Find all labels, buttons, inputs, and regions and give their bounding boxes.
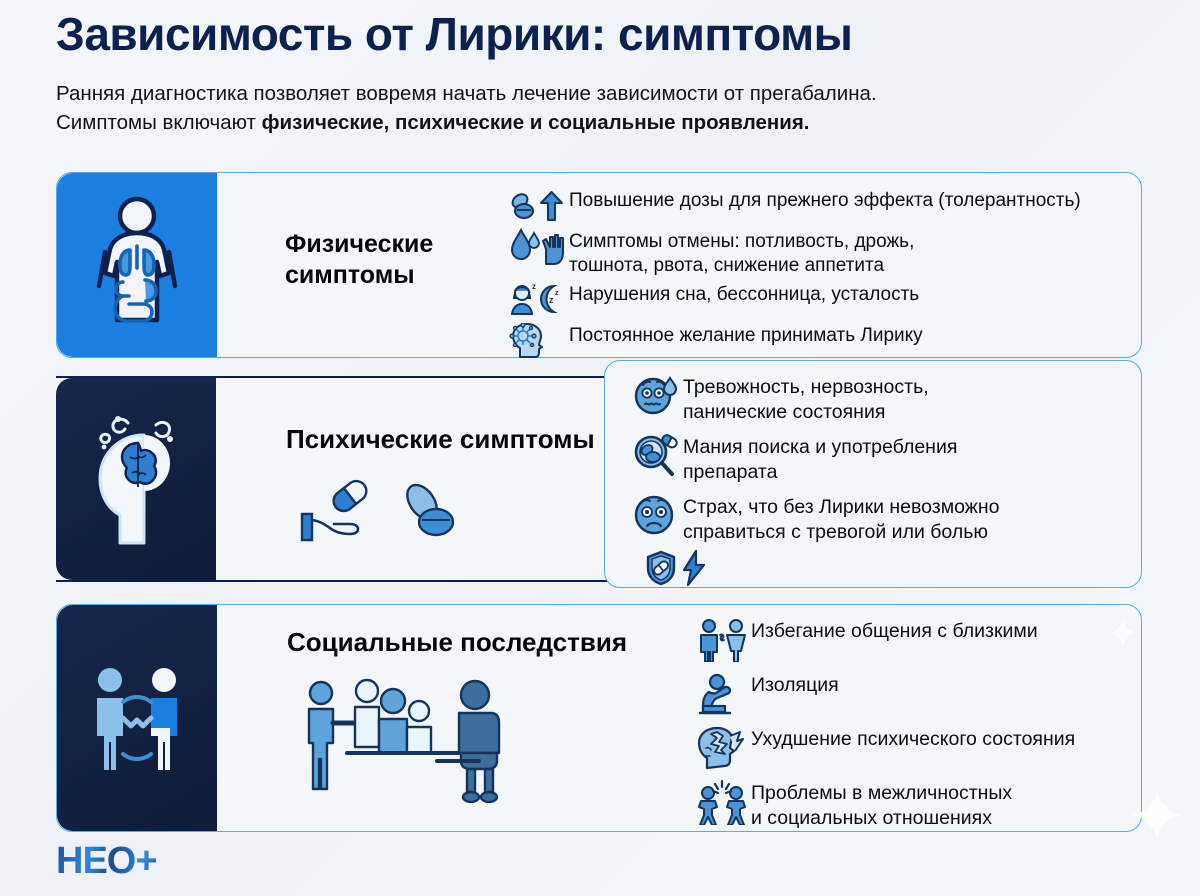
head-brain-icon: [84, 405, 188, 553]
panel-social: [57, 605, 217, 831]
panel-physical: [57, 173, 217, 357]
head-craving-thoughts-icon: [505, 322, 569, 360]
group-of-people-isolation-icon: [289, 667, 639, 807]
sweat-drop-trembling-hand-icon: [505, 228, 569, 266]
list-item-text: Проблемы в межличностных и социальных от…: [751, 779, 1012, 830]
social-illustration: [289, 667, 639, 812]
list-item-text: Страх, что без Лирики невозможно справит…: [683, 493, 999, 544]
header: Зависимость от Лирики: симптомы Ранняя д…: [56, 8, 1166, 137]
list-item: Симптомы отмены: потливость, дрожь, тошн…: [505, 228, 1081, 278]
list-item: Проблемы в межличностных и социальных от…: [693, 779, 1075, 830]
sleeping-person-moon-icon: z z z z: [505, 281, 569, 319]
svg-text:z: z: [549, 295, 554, 305]
list-item: Изоляция: [693, 671, 1075, 717]
logo-text: НЕО: [56, 842, 135, 880]
list-item: Ухудшение психического состояния: [693, 725, 1075, 771]
svg-text:z: z: [555, 290, 559, 297]
list-item-text: Повышение дозы для прежнего эффекта (тол…: [569, 187, 1081, 213]
list-item-text: Нарушения сна, бессонница, усталость: [569, 281, 919, 307]
card-social-consequences: Социальные последствия: [56, 604, 1142, 832]
human-body-organs-icon: [87, 190, 187, 340]
list-item-text: Тревожность, нервозность, панические сос…: [683, 373, 929, 424]
infographic-page: Зависимость от Лирики: симптомы Ранняя д…: [0, 0, 1200, 896]
card-mental-list-box: Тревожность, нервозность, панические сос…: [604, 360, 1142, 588]
brand-logo: НЕО +: [56, 842, 157, 880]
mental-footer-icons: [643, 549, 999, 587]
svg-text:z: z: [528, 291, 531, 297]
worried-face-icon: [627, 493, 683, 537]
pills-tablets-icon: [401, 480, 453, 535]
card-social-heading: Социальные последствия: [287, 627, 627, 659]
shield-capsule-icon: [643, 549, 679, 587]
page-subtitle: Ранняя диагностика позволяет вовремя нач…: [56, 79, 1146, 137]
card-mental-symptoms: Психические симптомы: [56, 376, 618, 582]
heading-line-1: Физические: [285, 230, 433, 258]
man-woman-avoidance-icon: [693, 617, 751, 663]
list-item-text: Симптомы отмены: потливость, дрожь, тошн…: [569, 228, 914, 278]
list-item-text: Изоляция: [751, 671, 839, 698]
list-item-text: Ухудшение психического состояния: [751, 725, 1075, 752]
logo-plus: +: [135, 842, 156, 880]
hand-holding-capsule-icon: [302, 477, 370, 540]
page-title: Зависимость от Лирики: симптомы: [56, 8, 1166, 61]
mental-symptom-list: Тревожность, нервозность, панические сос…: [627, 373, 999, 596]
list-item: Постоянное желание принимать Лирику: [505, 322, 1081, 360]
list-item-text: Избегание общения с близкими: [751, 617, 1038, 644]
card-physical-heading: Физическиесимптомы: [285, 229, 433, 290]
card-physical-symptoms: Физическиесимптомы Повышение дозы для пр…: [56, 172, 1142, 358]
svg-text:z: z: [532, 282, 536, 291]
panel-mental: [56, 378, 216, 580]
heading-line-2: симптомы: [285, 261, 415, 289]
magnifier-pills-search-icon: [627, 433, 683, 477]
subtitle-line-2: Симптомы включают физические, психически…: [56, 108, 1146, 137]
list-item: Страх, что без Лирики невозможно справит…: [627, 493, 999, 544]
subtitle-line-1: Ранняя диагностика позволяет вовремя нач…: [56, 79, 1146, 108]
list-item: Тревожность, нервозность, панические сос…: [627, 373, 999, 424]
pills-up-arrow-icon: [505, 187, 569, 225]
two-people-handshake-icon: [77, 658, 197, 778]
list-item: z z z z Нарушения сна, бессонница, устал…: [505, 281, 1081, 319]
list-item: Повышение дозы для прежнего эффекта (тол…: [505, 187, 1081, 225]
head-broken-mind-icon: [693, 725, 751, 771]
card-mental-heading: Психические симптомы: [286, 424, 595, 456]
lightning-bolt-icon: [679, 549, 709, 587]
list-item: Избегание общения с близкими: [693, 617, 1075, 663]
list-item: Мания поиска и употребления препарата: [627, 433, 999, 484]
social-consequence-list: Избегание общения с близкими Изоляция: [693, 617, 1075, 838]
physical-symptom-list: Повышение дозы для прежнего эффекта (тол…: [505, 187, 1081, 363]
anxious-face-sweat-icon: [627, 373, 683, 417]
subtitle-bold: физические, психические и социальные про…: [262, 111, 810, 134]
two-people-conflict-icon: [693, 779, 751, 825]
mental-illustration: [288, 474, 528, 557]
list-item-text: Постоянное желание принимать Лирику: [569, 322, 923, 348]
person-sitting-alone-icon: [693, 671, 751, 717]
list-item-text: Мания поиска и употребления препарата: [683, 433, 957, 484]
subtitle-prefix: Симптомы включают: [56, 111, 262, 134]
